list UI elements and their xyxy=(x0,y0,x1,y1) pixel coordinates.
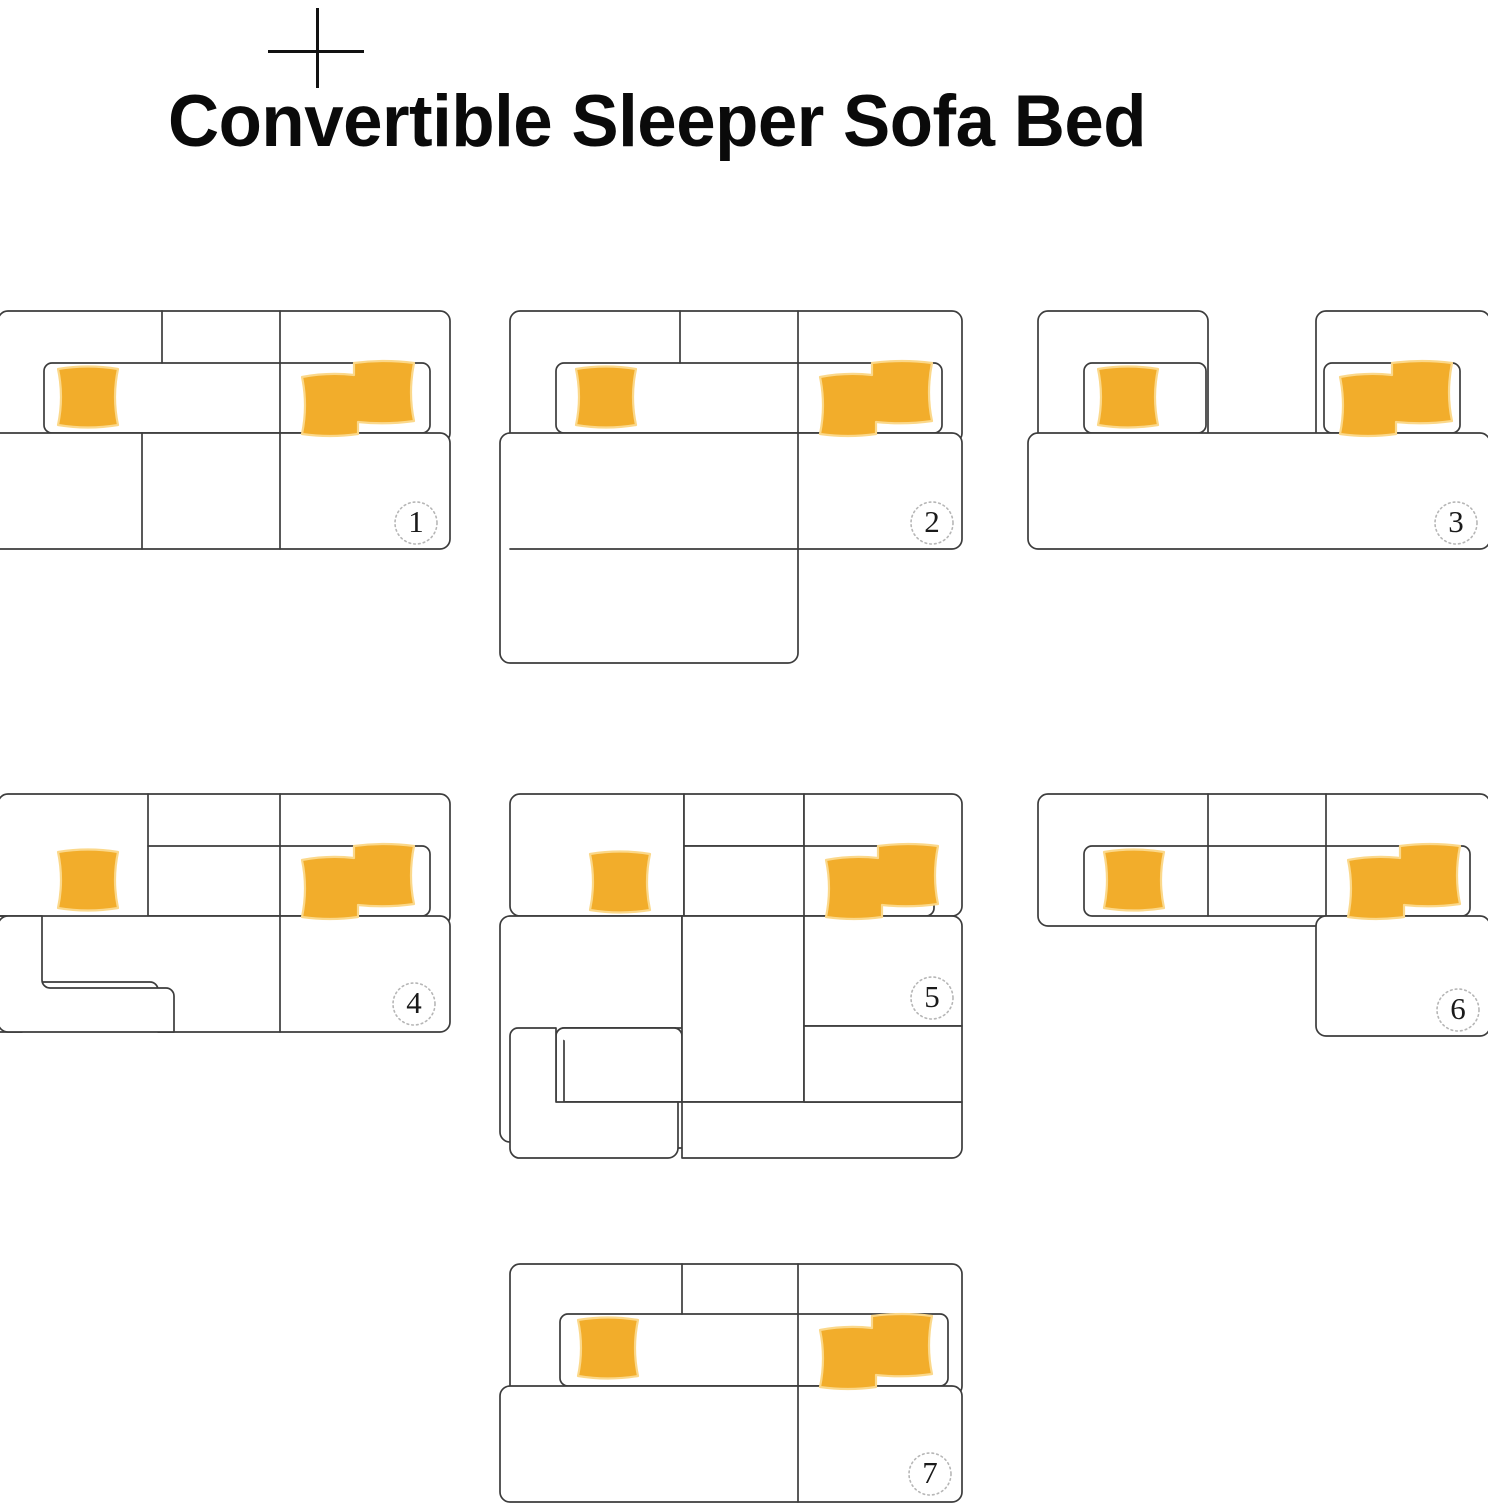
bed-platform xyxy=(500,1386,962,1502)
page-title: Convertible Sleeper Sofa Bed xyxy=(168,80,1146,163)
registration-crosshair-icon xyxy=(268,8,364,88)
figure-2-sectional-left-chaise: 2 xyxy=(514,305,974,665)
seat-platform xyxy=(0,433,450,549)
figure-6-sectional-right-chaise: 6 xyxy=(1042,788,1488,1048)
figure-3-split-backrest-bed-platform: 3 xyxy=(1042,305,1488,555)
badge-number: 1 xyxy=(408,504,424,539)
single-pillow xyxy=(58,367,118,428)
figure-4-sofa-with-stepped-ottoman: 4 xyxy=(2,788,452,1048)
single-pillow xyxy=(1104,850,1164,911)
bed-platform-with-chaise xyxy=(500,433,962,663)
crosshair-horizontal-bar xyxy=(268,50,364,53)
badge-number: 3 xyxy=(1448,504,1464,539)
badge-number: 5 xyxy=(924,979,940,1014)
figure-1-three-seat-sofa-closed: 1 xyxy=(2,305,452,555)
figure-7-sleeper-bed-flat: 7 xyxy=(514,1258,974,1508)
crosshair-vertical-bar xyxy=(316,8,319,88)
badge-number: 2 xyxy=(924,504,940,539)
single-pillow xyxy=(576,367,636,428)
middle-column-lower xyxy=(682,1102,962,1158)
single-pillow xyxy=(578,1318,638,1379)
bed-platform xyxy=(1028,433,1488,549)
single-pillow xyxy=(58,850,118,911)
badge-number: 6 xyxy=(1450,991,1466,1026)
single-pillow xyxy=(590,852,650,913)
figure-5-extended-sectional-bed: 5 xyxy=(514,788,974,1168)
right-column-lower xyxy=(804,1026,962,1102)
single-pillow xyxy=(1098,367,1158,428)
middle-column-upper xyxy=(682,916,804,1102)
badge-number: 4 xyxy=(406,985,422,1020)
badge-number: 7 xyxy=(922,1455,938,1490)
center-backrest-block xyxy=(684,794,804,846)
